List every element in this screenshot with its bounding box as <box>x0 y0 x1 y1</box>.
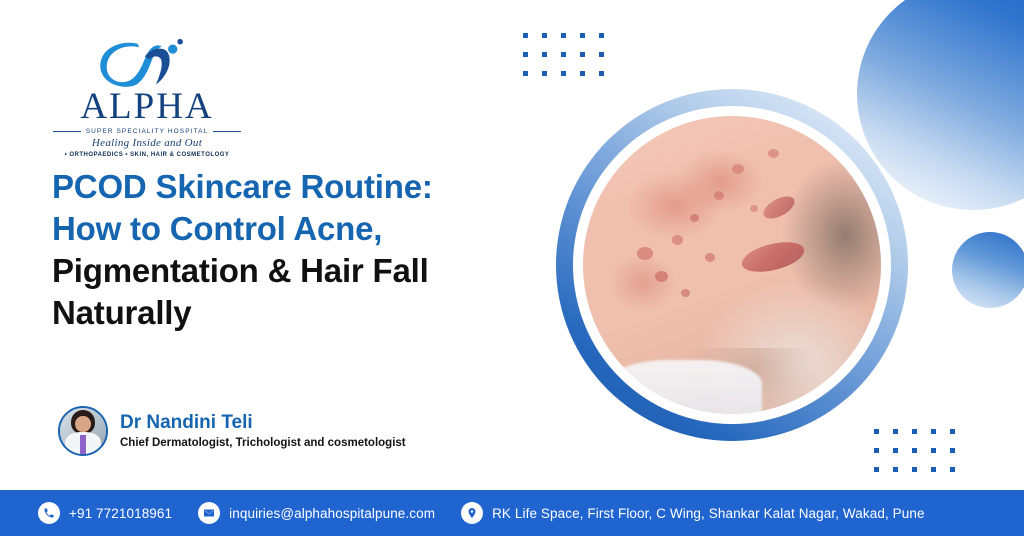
logo-wordmark: ALPHA <box>52 88 242 125</box>
email-address: inquiries@alphahospitalpune.com <box>229 506 435 521</box>
author-role: Chief Dermatologist, Trichologist and co… <box>120 437 406 449</box>
page-title: PCOD Skincare Routine: How to Control Ac… <box>52 166 552 334</box>
hospital-logo: ALPHA SUPER SPECIALITY HOSPITAL Healing … <box>52 38 242 158</box>
blog-banner: ALPHA SUPER SPECIALITY HOSPITAL Healing … <box>0 0 1024 536</box>
headline-line-1: PCOD Skincare Routine: <box>52 166 552 208</box>
address-text: RK Life Space, First Floor, C Wing, Shan… <box>492 506 925 521</box>
logo-tagline: SUPER SPECIALITY HOSPITAL <box>86 128 209 135</box>
contact-address[interactable]: RK Life Space, First Floor, C Wing, Shan… <box>461 502 925 524</box>
dot-grid-top <box>523 33 604 76</box>
author-text: Dr Nandini Teli Chief Dermatologist, Tri… <box>120 413 406 449</box>
decorative-circle-small <box>952 232 1024 308</box>
author-block: Dr Nandini Teli Chief Dermatologist, Tri… <box>58 406 406 456</box>
logo-script-tagline: Healing Inside and Out <box>52 137 242 149</box>
author-name: Dr Nandini Teli <box>120 413 406 434</box>
contact-phone[interactable]: +91 7721018961 <box>38 502 172 524</box>
hero-image <box>556 89 908 441</box>
logo-rule-right <box>213 131 241 132</box>
phone-icon <box>38 502 60 524</box>
location-pin-icon <box>461 502 483 524</box>
alpha-symbol-icon <box>91 38 202 90</box>
logo-specialties: • ORTHOPAEDICS • SKIN, HAIR & COSMETOLOG… <box>52 152 242 158</box>
headline-line-2: How to Control Acne, <box>52 208 552 250</box>
envelope-icon <box>198 502 220 524</box>
headline-line-3: Pigmentation & Hair Fall <box>52 250 552 292</box>
logo-rule-left <box>53 131 81 132</box>
avatar <box>58 406 108 456</box>
hero-photo-skin-closeup <box>583 116 881 414</box>
logo-tagline-row: SUPER SPECIALITY HOSPITAL <box>52 128 242 135</box>
phone-number: +91 7721018961 <box>69 506 172 521</box>
contact-footer-bar: +91 7721018961 inquiries@alphahospitalpu… <box>0 490 1024 536</box>
headline-line-4: Naturally <box>52 292 552 334</box>
contact-email[interactable]: inquiries@alphahospitalpune.com <box>198 502 435 524</box>
